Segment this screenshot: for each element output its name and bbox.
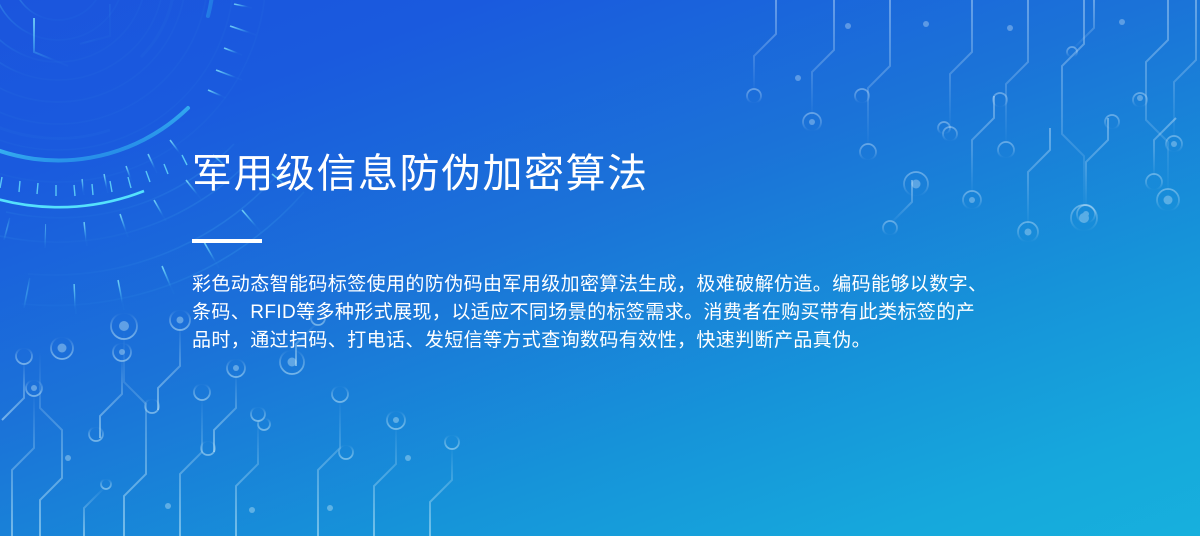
title-divider <box>192 239 262 243</box>
banner-content: 军用级信息防伪加密算法 彩色动态智能码标签使用的防伪码由军用级加密算法生成，极难… <box>192 150 1002 355</box>
page-title: 军用级信息防伪加密算法 <box>192 150 1002 199</box>
promo-banner: 军用级信息防伪加密算法 彩色动态智能码标签使用的防伪码由军用级加密算法生成，极难… <box>0 0 1200 536</box>
banner-description: 彩色动态智能码标签使用的防伪码由军用级加密算法生成，极难破解仿造。编码能够以数字… <box>192 271 992 355</box>
